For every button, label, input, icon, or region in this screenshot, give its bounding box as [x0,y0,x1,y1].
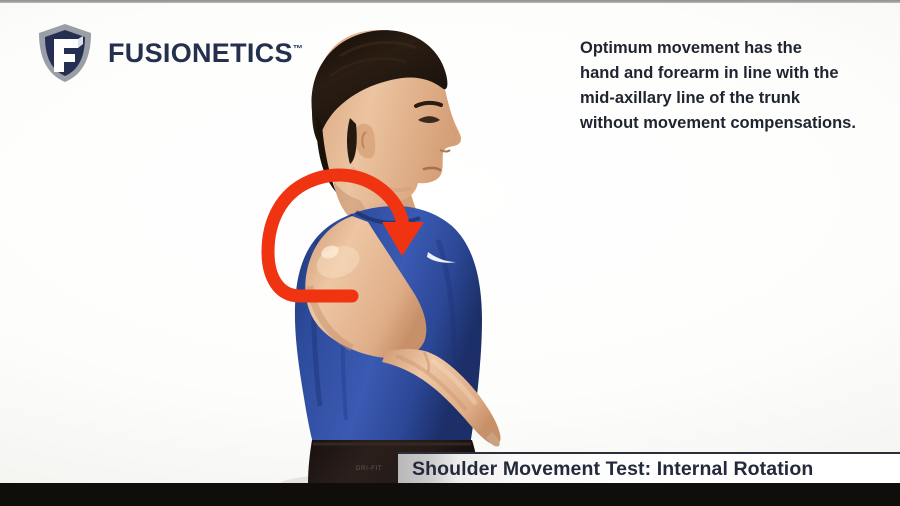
instruction-line-1: Optimum movement has the [580,36,890,61]
fusionetics-logo: FUSIONETICS™ [36,22,303,84]
instruction-line-4: without movement compensations. [580,111,890,136]
instruction-line-2: hand and forearm in line with the [580,61,890,86]
fusionetics-shield-icon [36,22,94,84]
video-frame: DRI-FIT FUSIONETICS™ Optimum movement [0,0,900,506]
brand-wordmark-text: FUSIONETICS [108,38,293,68]
svg-text:DRI-FIT: DRI-FIT [356,466,382,472]
top-hairline [0,0,900,3]
bottom-letterbox [0,483,900,506]
trademark-symbol: ™ [293,44,303,55]
instruction-text: Optimum movement has the hand and forear… [580,36,890,136]
brand-wordmark: FUSIONETICS™ [108,38,303,69]
instruction-line-3: mid-axillary line of the trunk [580,86,890,111]
caption-bar: Shoulder Movement Test: Internal Rotatio… [398,452,900,486]
caption-title: Shoulder Movement Test: Internal Rotatio… [412,458,813,481]
